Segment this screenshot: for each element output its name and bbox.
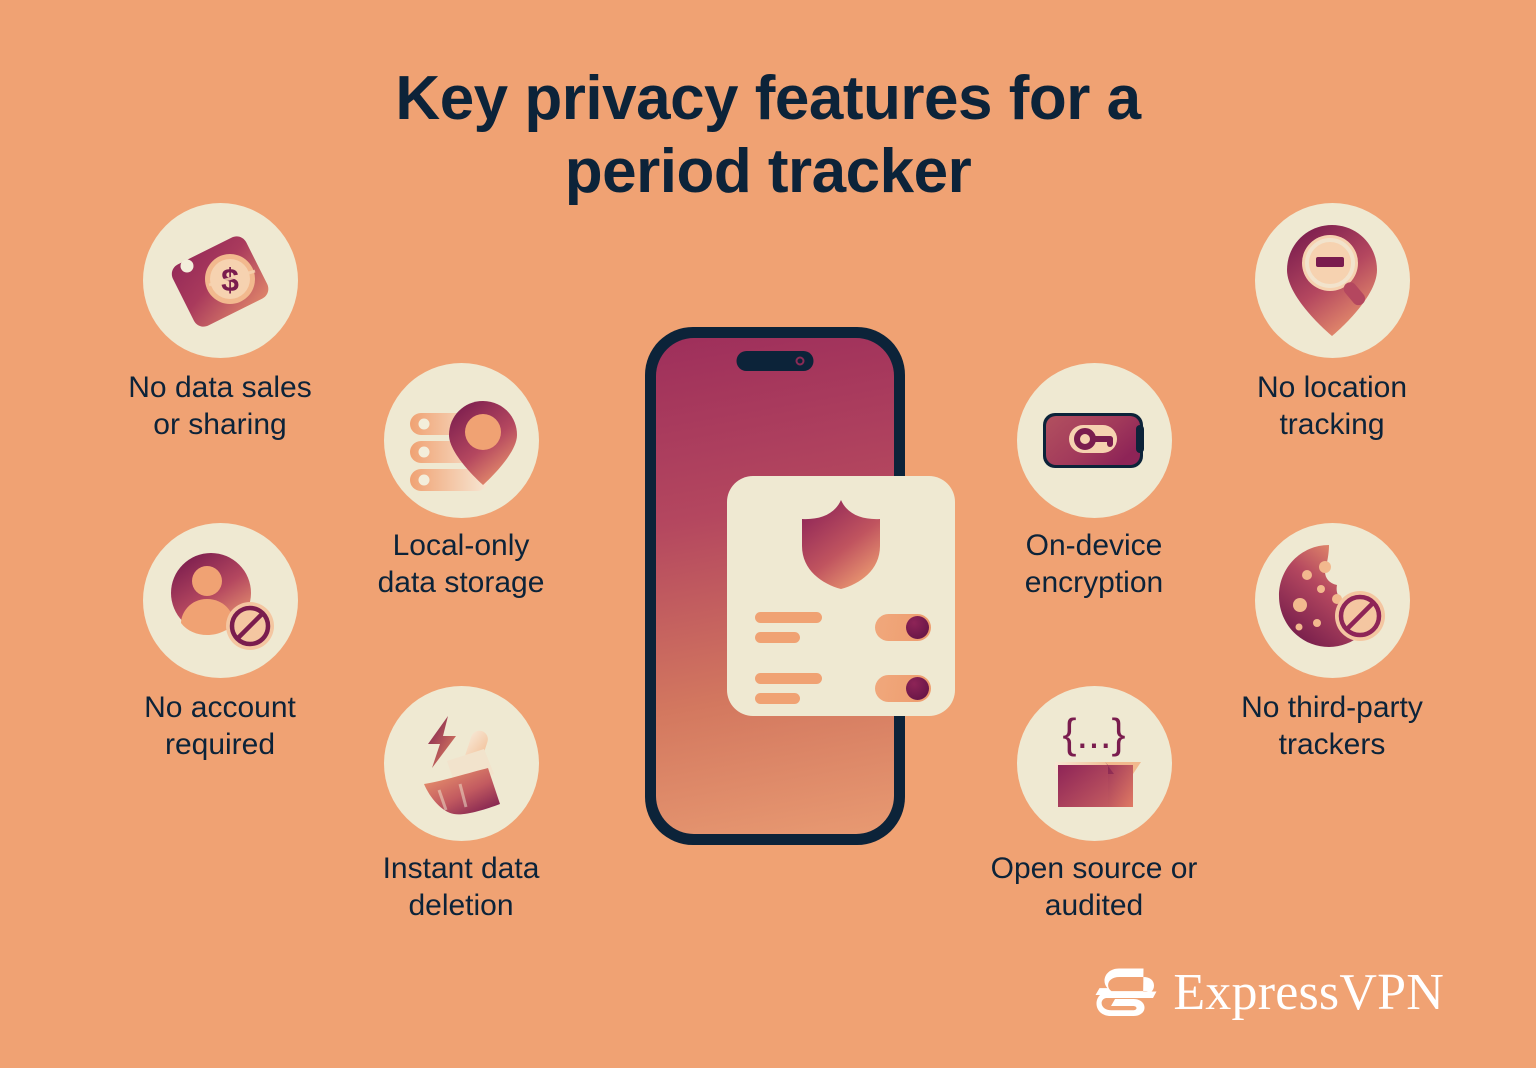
user-blocked-icon [143, 523, 298, 678]
text-placeholder-line [755, 612, 822, 623]
toggle-knob [906, 616, 929, 639]
settings-row [755, 612, 931, 643]
brand-name: ExpressVPN [1173, 967, 1444, 1019]
settings-toggle[interactable] [875, 614, 931, 641]
open-box-code-braces-icon: {...} [1017, 686, 1172, 841]
map-pin-magnifier-minus-icon [1255, 203, 1410, 358]
row-text-lines [755, 673, 822, 704]
feature-label: No location tracking [1182, 370, 1482, 443]
phone-mockup [645, 327, 905, 845]
server-location-pin-icon [384, 363, 539, 518]
phone-key-icon [1017, 363, 1172, 518]
settings-row [755, 673, 931, 704]
title-line-2: period tracker [0, 135, 1536, 208]
expressvpn-logo-mark [1095, 962, 1157, 1024]
text-placeholder-line [755, 632, 800, 643]
infographic-canvas: Key privacy features for a period tracke… [0, 0, 1536, 1068]
settings-rows [755, 612, 931, 734]
price-tag-dollar-icon: $ [143, 203, 298, 358]
svg-text:{...}: {...} [1062, 710, 1125, 757]
feature-instant-deletion: Instant data deletion [311, 686, 611, 924]
page-title: Key privacy features for a period tracke… [0, 62, 1536, 208]
row-text-lines [755, 612, 822, 643]
phone-screen [656, 338, 894, 834]
title-line-1: Key privacy features for a [395, 64, 1140, 133]
feature-no-location-tracking: No location tracking [1182, 203, 1482, 443]
settings-toggle[interactable] [875, 675, 931, 702]
cookie-blocked-icon [1255, 523, 1410, 678]
dynamic-island [737, 351, 814, 371]
feature-open-source: {...} Open source or audited [944, 686, 1244, 924]
privacy-settings-card [727, 476, 955, 716]
feature-label: Open source or audited [944, 851, 1244, 924]
shield-icon [798, 498, 884, 590]
text-placeholder-line [755, 693, 800, 704]
text-placeholder-line [755, 673, 822, 684]
broom-lightning-icon [384, 686, 539, 841]
expressvpn-logo: ExpressVPN [1095, 962, 1444, 1024]
camera-lens-icon [796, 357, 805, 366]
toggle-knob [906, 677, 929, 700]
feature-label: Instant data deletion [311, 851, 611, 924]
